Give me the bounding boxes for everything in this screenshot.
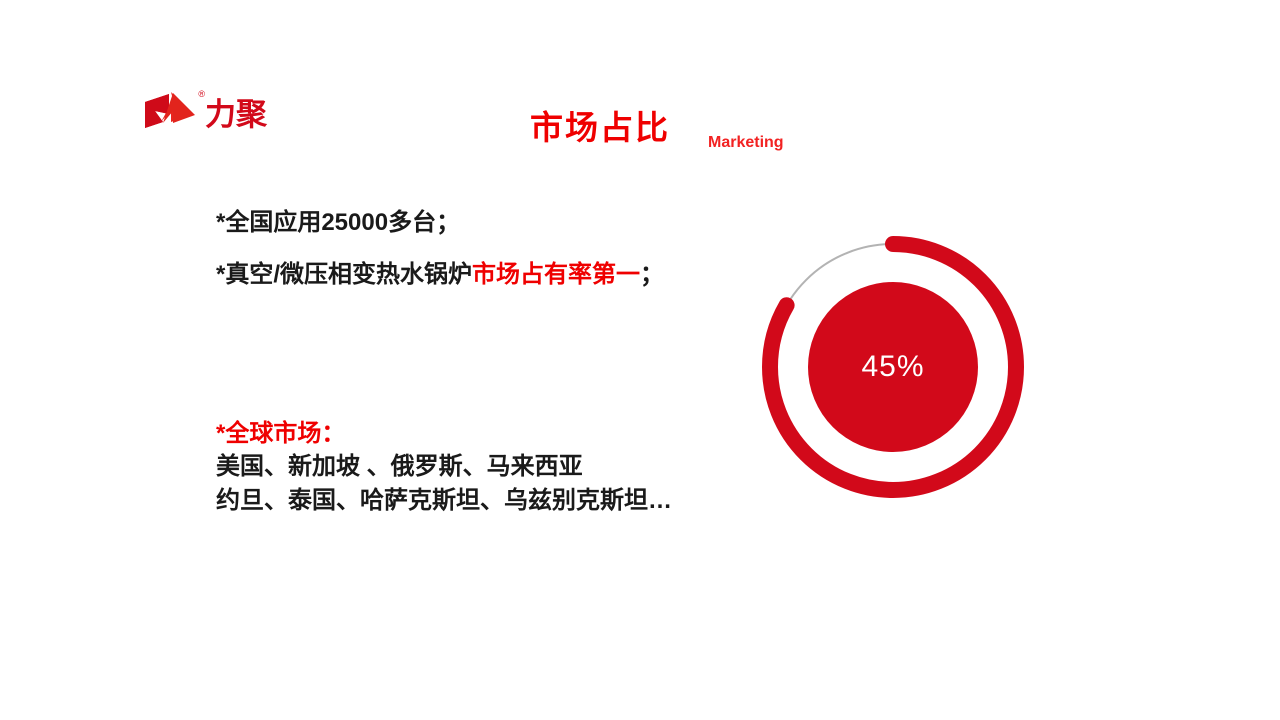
bullet-segment-highlight: 市场占有率第一 — [472, 261, 640, 288]
market-share-donut-chart: 45% — [761, 235, 1025, 499]
bullet-list: *全国应用25000多台； *真空/微压相变热水锅炉市场占有率第一； — [216, 206, 736, 292]
bullet-item-market-share-rank: *真空/微压相变热水锅炉市场占有率第一； — [216, 258, 736, 292]
global-market-line-1: 美国、新加坡 、俄罗斯、马来西亚 — [216, 450, 776, 484]
global-market-heading: *全球市场： — [216, 418, 776, 450]
bullet-segment-text: *全国应用25000多台； — [216, 209, 460, 236]
bullet-segment-text: *真空/微压相变热水锅炉 — [216, 261, 472, 288]
global-market-line-2: 约旦、泰国、哈萨克斯坦、乌兹别克斯坦… — [216, 484, 776, 518]
lightning-bolt-logo-icon: ® — [143, 92, 199, 138]
bullet-segment-punctuation: ； — [640, 261, 664, 288]
global-market-block: *全球市场： 美国、新加坡 、俄罗斯、马来西亚 约旦、泰国、哈萨克斯坦、乌兹别克… — [216, 418, 776, 519]
logo-wordmark: 力聚 — [205, 100, 267, 131]
page-subtitle: Marketing — [708, 135, 784, 151]
company-logo: ® 力聚 — [143, 86, 263, 144]
slide-canvas: ® 力聚 市场占比 Marketing *全国应用25000多台； *真空/微压… — [0, 0, 1280, 720]
donut-inner-disc — [808, 282, 978, 452]
bullet-item-domestic-installs: *全国应用25000多台； — [216, 206, 736, 240]
page-title: 市场占比 — [530, 111, 670, 144]
registered-trademark-icon: ® — [198, 90, 205, 99]
